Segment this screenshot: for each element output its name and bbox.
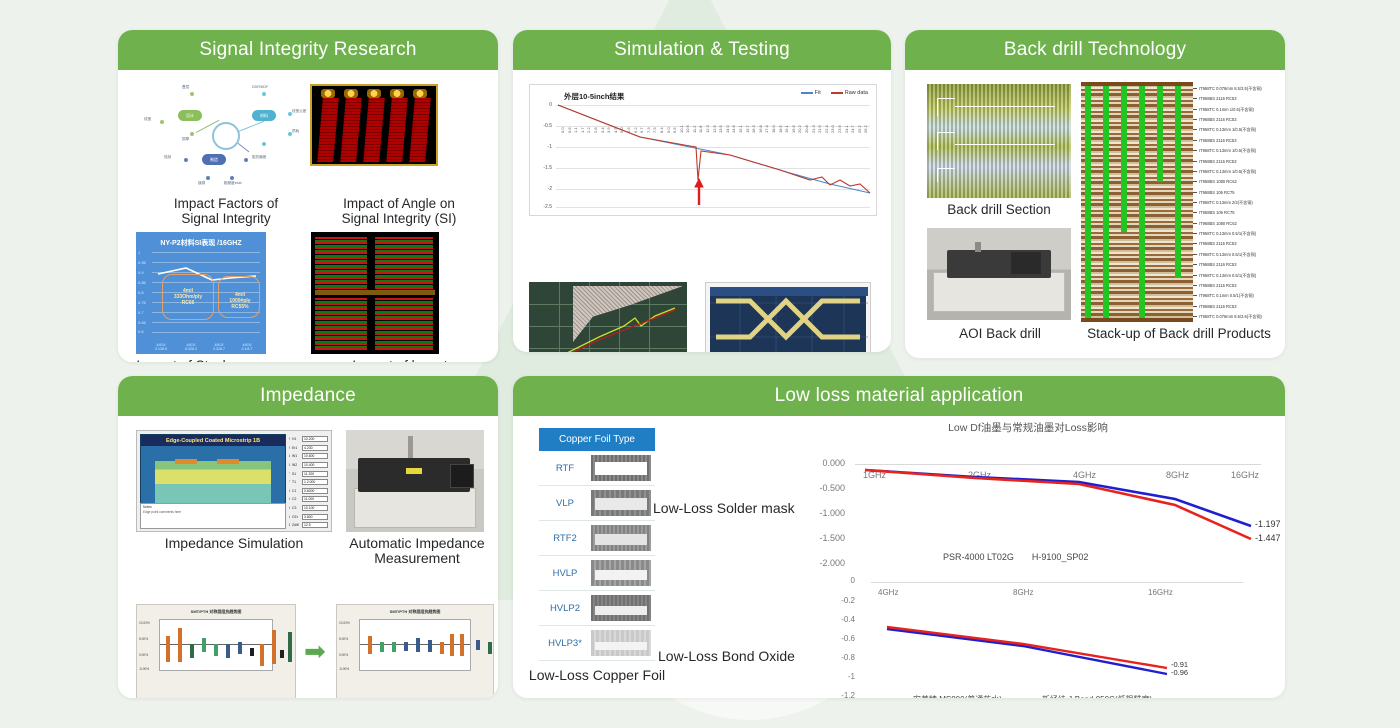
stackup-chart-title: NY-P2材料SI表现 /16GHZ xyxy=(136,238,266,248)
stackup-tick xyxy=(1193,98,1197,99)
imp-sim-field-row: Coating DielectricCEr3.800 xyxy=(289,512,328,521)
imp-sim-field-label: Trace Separation xyxy=(289,472,290,476)
imp-sim-field-input[interactable]: 10.200 xyxy=(302,436,328,442)
imp-sim-field-label: Trace Thickness xyxy=(289,480,290,484)
stackup-tick xyxy=(1193,212,1197,213)
stackup-row-label: IT968TC 0.13mm 1/0.5(不含铜) xyxy=(1199,169,1256,175)
imp-sim-field-row: Differential ImpedanceZdiff12.5 xyxy=(289,521,328,530)
caption-aoi-back-drill: AOI Back drill xyxy=(917,326,1083,341)
stackup-tick xyxy=(1193,202,1197,203)
copper-foil-row-label: VLP xyxy=(539,498,591,509)
imp-sim-field-key: Zdiff xyxy=(292,523,300,527)
slide-canvas: Signal Integrity Research 设计 材料 制造 xyxy=(0,0,1400,728)
transform-arrow-icon: ➡ xyxy=(304,638,326,664)
copper-foil-table-header: Copper Foil Type xyxy=(539,428,655,451)
imp-sim-field-label: Coating Above Trace xyxy=(289,497,290,501)
imp-sim-field-label: Substrate 1 Dielectric xyxy=(289,446,290,450)
stackup-row-label: IT968TC 0.076mm 8.5/3.5(不含铜) xyxy=(1199,86,1262,92)
caption-back-drill-section: Back drill Section xyxy=(915,202,1083,217)
solder-mask-loss-chart: Low Df油墨与常规油墨对Loss影响 0.000 -0.500 -1.000… xyxy=(783,420,1273,570)
bond-oxide-chart-curves xyxy=(783,556,1273,698)
stackup-tick xyxy=(1193,264,1197,265)
outer-layer-10-5inch-chart: 外层10-5inch结果 Fit Raw data 0 -0.5 -1 -1.5… xyxy=(529,84,877,216)
copper-foil-type-table: Copper Foil Type RTFVLPRTF2HVLPHVLP2HVLP… xyxy=(539,428,655,661)
mindmap-label-stackup: 叠层 xyxy=(182,85,189,90)
panel-impedance: Impedance Edge-Coupled Coated Microstrip… xyxy=(118,376,498,698)
caption-impact-angle: Impact of Angle on Signal Integrity (SI) xyxy=(306,196,492,226)
imp-sim-field-input[interactable]: 0.6000 xyxy=(302,488,328,494)
imp-sim-field-input[interactable]: 10.100 xyxy=(302,505,328,511)
stackup-tick xyxy=(1193,223,1197,224)
stackup-row-label: IT968BS 106 RC75 xyxy=(1199,190,1235,195)
mindmap-label-impedance-dev: 阻抗偏差 xyxy=(252,155,266,160)
imp-sim-field-key: W2 xyxy=(292,463,300,467)
stackup-tick xyxy=(1193,129,1197,130)
copper-foil-row[interactable]: HVLP3* xyxy=(539,626,655,661)
stackup-row-label: IT968TC 0.076mm 8.5/3.5(不含铜) xyxy=(1199,314,1262,320)
nulling-chart-title-left: SMT/PTH 对称层阻抗趋势图 xyxy=(137,609,295,615)
imp-sim-window-title: Edge-Coupled Coated Microstrip 1B xyxy=(141,435,285,446)
imp-sim-field-row: Coating Above TraceC211.000 xyxy=(289,495,328,504)
stackup-row-label: IT968BS 106 RC75 xyxy=(1199,210,1235,215)
insertion-loss-test-plot-image xyxy=(529,282,687,352)
imp-sim-field-input[interactable]: 3.800 xyxy=(302,514,328,520)
copper-foil-cross-section-image xyxy=(591,595,651,621)
panel-low-loss-header: Low loss material application xyxy=(513,376,1285,416)
imp-sim-field-input[interactable]: 12.5 xyxy=(302,522,328,528)
stackup-row-label: IT968BS 2116 RC53 xyxy=(1199,241,1236,246)
panel-back-drill-header: Back drill Technology xyxy=(905,30,1285,70)
solder-mask-chart-curves xyxy=(783,420,1273,570)
stackup-tick xyxy=(1193,233,1197,234)
copper-foil-row[interactable]: VLP xyxy=(539,486,655,521)
stackup-row-label: IT968BS 2116 RC53 xyxy=(1199,96,1236,101)
panel-signal-integrity-title: Signal Integrity Research xyxy=(199,39,416,61)
copper-foil-cross-section-image xyxy=(591,455,651,481)
stackup-row-label: IT968TC 0.1mm 1/0.5(不含铜) xyxy=(1199,107,1254,113)
copper-foil-row-label: HVLP2 xyxy=(539,603,591,614)
mindmap-node-manufacture: 制造 xyxy=(202,154,226,165)
stackup-tick xyxy=(1193,119,1197,120)
stackup-row-label: IT968TC 0.1mm 0.5/1(不含铜) xyxy=(1199,293,1254,299)
imp-sim-field-row: Trace ThicknessT11.2.000 xyxy=(289,478,328,487)
impedance-nulling-after-chart: SMT/PTH 对称层阻抗趋势图 10.00% 5.00% xyxy=(336,604,494,698)
stackup-row-label: IT968BS 1080 RC62 xyxy=(1199,179,1237,184)
caption-automatic-impedance-measurement: Automatic Impedance Measurement xyxy=(342,536,492,566)
imp-sim-field-input[interactable]: 4.230 xyxy=(302,445,328,451)
stackup-row-label: IT968TC 0.13mm 2/2(不含铜) xyxy=(1199,200,1253,206)
panel-back-drill-title: Back drill Technology xyxy=(1004,39,1186,61)
stackup-row-label: IT968TC 0.13mm 0.5/1(不含铜) xyxy=(1199,252,1256,258)
copper-foil-row-label: RTF xyxy=(539,463,591,474)
imp-sim-field-input[interactable]: 10.400 xyxy=(302,462,328,468)
mindmap-node-material: 材料 xyxy=(252,110,276,121)
angle-scan-image xyxy=(310,84,438,166)
mindmap-center-node xyxy=(212,122,240,150)
imp-sim-field-input[interactable]: 11.000 xyxy=(302,496,328,502)
stackup-row-label: IT968BS 2116 RC53 xyxy=(1199,262,1236,267)
stackup-tick xyxy=(1193,243,1197,244)
stackup-row-label: IT968TC 0.13mm 0.5/1(不含铜) xyxy=(1199,273,1256,279)
stackup-tick xyxy=(1193,316,1197,317)
imp-sim-field-label: Lower Trace Width xyxy=(289,454,290,458)
mindmap-label-copper: 铜厚 xyxy=(182,137,189,142)
stackup-row-label: IT968BS 2116 RC53 xyxy=(1199,159,1236,164)
imp-sim-field-key: C3 xyxy=(292,506,300,510)
stackup-tick xyxy=(1193,192,1197,193)
stackup-row-label: IT968BS 1080 RC62 xyxy=(1199,221,1237,226)
stackup-row-label: IT968TC 0.13mm 1/0.5(不含铜) xyxy=(1199,127,1256,133)
bo-legend-0: 安美特 MS800(普通药水) xyxy=(913,695,1002,698)
imp-sim-field-label: Coating Dielectric xyxy=(289,515,290,519)
mindmap-label-roughness: 粗糙度stub xyxy=(224,181,242,186)
stackup-row-label: IT968TC 0.13mm 0.5/1(不含铜) xyxy=(1199,231,1256,237)
imp-sim-field-row: Upper Trace WidthW210.400 xyxy=(289,461,328,470)
sim-chart-curves xyxy=(530,85,877,216)
stackup-row-label: IT968BS 2116 RC53 xyxy=(1199,138,1236,143)
sm-endlabel-blue: -1.197 xyxy=(1255,519,1281,529)
automatic-impedance-measurement-image xyxy=(346,430,484,532)
imp-sim-field-key: H1 xyxy=(292,437,300,441)
stackup-tick xyxy=(1193,181,1197,182)
stackup-tick xyxy=(1193,161,1197,162)
imp-sim-field-key: C2 xyxy=(292,497,300,501)
imp-sim-field-row: Coating Between TracesC310.100 xyxy=(289,504,328,513)
mindmap-label-loss: 损耗 xyxy=(292,129,299,134)
imp-sim-field-row: Trace SeparationS111.200 xyxy=(289,469,328,478)
copper-foil-row[interactable]: RTF2 xyxy=(539,521,655,556)
stackup-tick xyxy=(1193,88,1197,89)
caption-impact-factors: Impact Factors of Signal Integrity xyxy=(128,196,324,226)
panel-impedance-title: Impedance xyxy=(260,385,356,407)
stackup-tick xyxy=(1193,171,1197,172)
stackup-tick xyxy=(1193,285,1197,286)
mindmap-node-design: 设计 xyxy=(178,110,202,121)
mindmap-label-ddr: DDR/DDF xyxy=(252,85,268,89)
copper-foil-row-label: HVLP3* xyxy=(539,638,591,649)
copper-foil-cross-section-image xyxy=(591,525,651,551)
mindmap-label-linewidth: 线宽 xyxy=(144,117,151,122)
panel-impedance-header: Impedance xyxy=(118,376,498,416)
imp-sim-field-label: Differential Impedance xyxy=(289,523,290,527)
imp-sim-field-row: Substrate 1 HeightH110.200 xyxy=(289,435,328,444)
stackup-si-chart-image: NY-P2材料SI表现 /16GHZ 1 0.95 0.9 0.85 0.8 0… xyxy=(136,232,266,354)
imp-sim-field-key: T1 xyxy=(292,480,300,484)
caption-stackup-products: Stack-up of Back drill Products xyxy=(1077,326,1281,341)
imp-sim-notes-value: Edge point comments here xyxy=(141,510,285,514)
copper-foil-row[interactable]: HVLP xyxy=(539,556,655,591)
panel-simulation-testing-header: Simulation & Testing xyxy=(513,30,891,70)
nulling-chart-title-right: SMT/PTH 对称层阻抗趋势图 xyxy=(337,609,493,615)
mindmap-label-plating: 镀铜 xyxy=(198,181,205,186)
back-drill-section-image xyxy=(927,84,1071,198)
panel-back-drill: Back drill Technology Back drill Section xyxy=(905,30,1285,358)
imp-sim-field-row: Substrate 1 DielectricEr14.230 xyxy=(289,444,328,453)
imp-sim-field-key: S1 xyxy=(292,472,300,476)
caption-impact-stackup: Impact of Stack-up on Signal Integrity (… xyxy=(122,358,282,362)
imp-sim-field-label: Coating Above Substrate xyxy=(289,489,290,493)
copper-foil-cross-section-image xyxy=(591,630,651,656)
imp-sim-field-key: C1 xyxy=(292,489,300,493)
impedance-simulation-image: Edge-Coupled Coated Microstrip 1B www.po… xyxy=(136,430,332,532)
stackup-tick xyxy=(1193,275,1197,276)
imp-sim-field-input[interactable]: 10.600 xyxy=(302,453,328,459)
stackup-row-label: IT968BS 2116 RC53 xyxy=(1199,283,1236,288)
panel-simulation-testing-title: Simulation & Testing xyxy=(614,39,790,61)
stackup-tick xyxy=(1193,140,1197,141)
panel-low-loss: Low loss material application Copper Foi… xyxy=(513,376,1285,698)
caption-impact-layout: Impact of layout on Signal Integrity (SI… xyxy=(304,358,496,362)
caption-low-loss-copper-foil: Low-Loss Copper Foil xyxy=(517,668,677,683)
bond-oxide-loss-chart: 0 -0.2 -0.4 -0.6 -0.8 -1 -1.2 4GHz 8GHz … xyxy=(783,556,1273,698)
imp-sim-field-input[interactable]: 11.200 xyxy=(302,471,328,477)
copper-foil-row[interactable]: HVLP2 xyxy=(539,591,655,626)
caption-impedance-simulation: Impedance Simulation xyxy=(128,536,340,551)
copper-foil-cross-section-image xyxy=(591,490,651,516)
copper-foil-cross-section-image xyxy=(591,560,651,586)
copper-foil-row-label: RTF2 xyxy=(539,533,591,544)
copper-foil-row-label: HVLP xyxy=(539,568,591,579)
eye-diagram-image xyxy=(705,282,871,352)
imp-sim-field-key: Er1 xyxy=(292,446,300,450)
stackup-tick xyxy=(1193,295,1197,296)
imp-sim-field-label: Upper Trace Width xyxy=(289,463,290,467)
copper-foil-row[interactable]: RTF xyxy=(539,451,655,486)
stackup-tick xyxy=(1193,150,1197,151)
stackup-row-label: IT968BS 2116 RC53 xyxy=(1199,117,1236,122)
impedance-nulling-before-chart: SMT/PTH 对称层阻抗趋势图 10.00% xyxy=(136,604,296,698)
imp-sim-field-key: W1 xyxy=(292,454,300,458)
panel-signal-integrity: Signal Integrity Research 设计 材料 制造 xyxy=(118,30,498,362)
stackup-tick xyxy=(1193,109,1197,110)
imp-sim-field-row: Coating Above SubstrateC10.6000 xyxy=(289,487,328,496)
sm-endlabel-red: -1.447 xyxy=(1255,533,1281,543)
bo-endlabel-blue: -0.96 xyxy=(1171,668,1188,677)
imp-sim-field-row: Lower Trace WidthW110.600 xyxy=(289,452,328,461)
imp-sim-field-label: Coating Between Traces xyxy=(289,506,290,510)
imp-sim-field-label: Substrate 1 Height xyxy=(289,437,290,441)
panel-low-loss-title: Low loss material application xyxy=(775,385,1024,407)
stackup-products-image: IT968TC 0.076mm 8.5/3.5(不含铜)IT968BS 2116… xyxy=(1081,82,1277,322)
bond-oxide-chart-legend: 安美特 MS800(普通药水) 新经纬 J-Bond 050C(低粗糙度) xyxy=(913,694,1152,698)
stackup-tick xyxy=(1193,306,1197,307)
panel-simulation-testing: Simulation & Testing 外层10-5inch结果 Fit Ra… xyxy=(513,30,891,352)
stackup-row-label: IT968BS 2116 RC53 xyxy=(1199,304,1236,309)
stackup-row-label: IT968TC 0.13mm 1/0.5(不含铜) xyxy=(1199,148,1256,154)
panel-signal-integrity-header: Signal Integrity Research xyxy=(118,30,498,70)
bo-legend-1: 新经纬 J-Bond 050C(低粗糙度) xyxy=(1042,695,1152,698)
stackup-tick xyxy=(1193,254,1197,255)
layout-simulation-image xyxy=(311,232,439,354)
imp-sim-field-input[interactable]: 1.2.000 xyxy=(302,479,328,485)
imp-sim-field-key: CEr xyxy=(292,515,300,519)
mind-map-image: 设计 材料 制造 叠层 DDR/DDF 线宽公差 损耗 线宽 xyxy=(140,82,308,192)
aoi-back-drill-image xyxy=(927,228,1071,320)
mindmap-label-width-tol: 线宽公差 xyxy=(292,109,306,114)
mindmap-label-etch: 蚀刻 xyxy=(164,155,171,160)
